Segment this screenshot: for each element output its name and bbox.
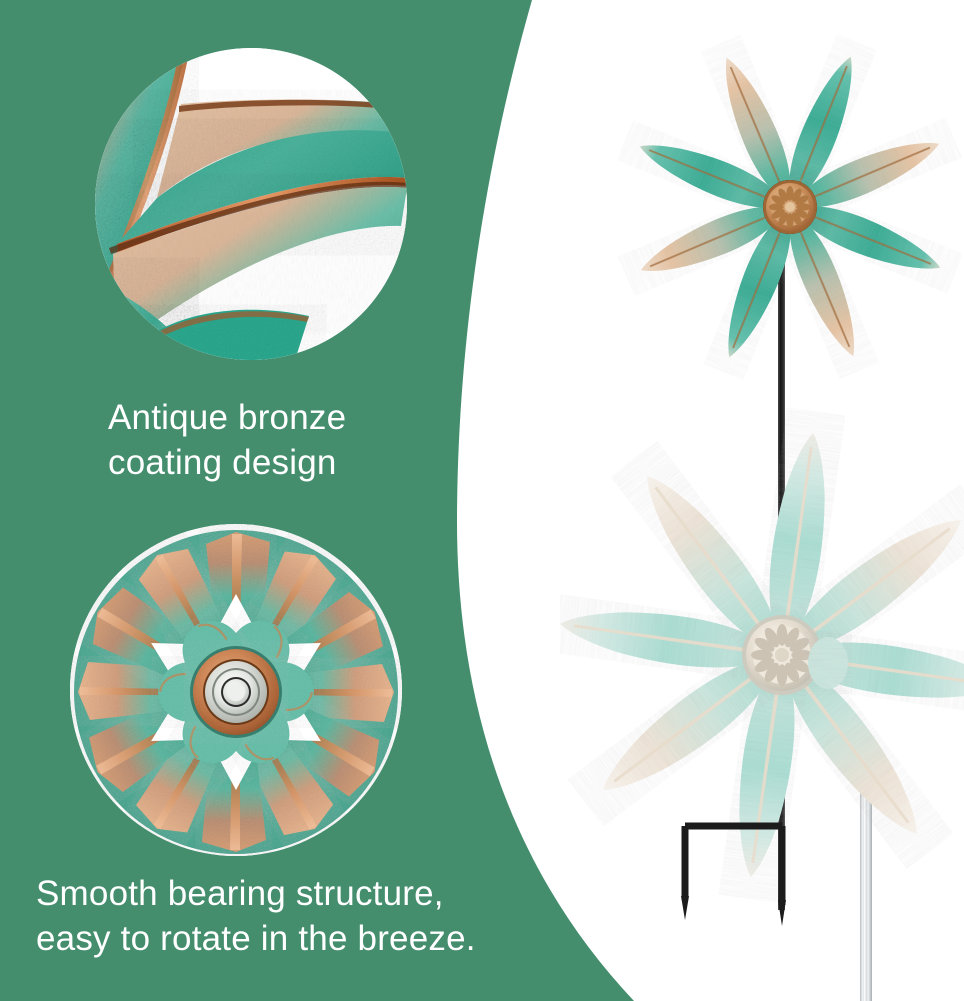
inset-blade-closeup [95,48,407,360]
bottom-pinwheel-flower [560,430,964,880]
caption-antique-bronze: Antique bronze coating design [108,396,346,486]
caption-top-line2: coating design [108,441,346,486]
top-pinwheel-flower [633,50,947,364]
inset-bearing-closeup [70,524,402,856]
chrome-pole [860,775,872,1001]
caption-bottom-line1: Smooth bearing structure, [36,872,476,917]
product-feature-image: Antique bronze coating design Smooth bea… [0,0,964,1001]
caption-top-line1: Antique bronze [108,396,346,441]
caption-bottom-line2: easy to rotate in the breeze. [36,917,476,962]
caption-smooth-bearing: Smooth bearing structure, easy to rotate… [36,872,476,962]
product-photo-wind-spinner [560,0,964,1001]
